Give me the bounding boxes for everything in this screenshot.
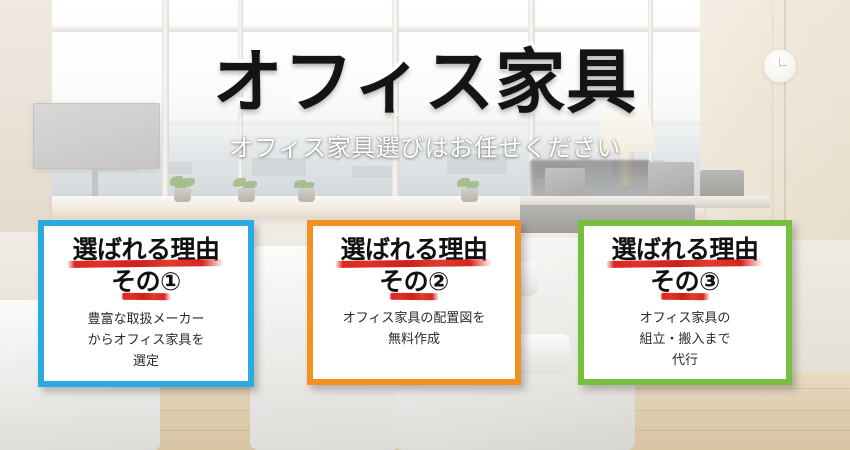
reason-body-2: オフィス家具の配置図を 無料作成 <box>313 308 515 350</box>
reason-body-3: オフィス家具の 組立・搬入まで 代行 <box>584 308 786 371</box>
reason-number-3: その③ <box>650 267 720 296</box>
reason-body-line: 豊富な取扱メーカー <box>44 309 248 330</box>
reason-body-line: 選定 <box>44 351 248 372</box>
reason-body-line: 無料作成 <box>313 329 515 350</box>
reason-body-line: 代行 <box>584 350 786 371</box>
reason-heading-3: 選ばれる理由 <box>611 235 758 264</box>
reason-heading-1: 選ばれる理由 <box>72 235 219 264</box>
reason-body-1: 豊富な取扱メーカー からオフィス家具を 選定 <box>44 309 248 372</box>
reason-card-3[interactable]: 選ばれる理由 その③ オフィス家具の 組立・搬入まで 代行 <box>578 220 792 385</box>
reason-heading-2: 選ばれる理由 <box>340 235 487 264</box>
reason-number-2: その② <box>379 267 449 296</box>
reason-cards: 選ばれる理由 その① 豊富な取扱メーカー からオフィス家具を 選定 選ばれる理由… <box>0 0 850 450</box>
reason-number-1: その① <box>111 267 181 296</box>
reason-body-line: からオフィス家具を <box>44 330 248 351</box>
reason-card-1[interactable]: 選ばれる理由 その① 豊富な取扱メーカー からオフィス家具を 選定 <box>38 220 254 387</box>
red-underline-icon <box>389 293 439 301</box>
promo-banner: オフィス家具 オフィス家具選びはお任せください 選ばれる理由 その① 豊富な取扱… <box>0 0 850 450</box>
red-underline-icon <box>660 293 710 301</box>
red-underline-icon <box>121 293 171 301</box>
reason-card-2[interactable]: 選ばれる理由 その② オフィス家具の配置図を 無料作成 <box>307 220 521 385</box>
reason-body-line: 組立・搬入まで <box>584 329 786 350</box>
reason-body-line: オフィス家具の <box>584 308 786 329</box>
reason-body-line: オフィス家具の配置図を <box>313 308 515 329</box>
